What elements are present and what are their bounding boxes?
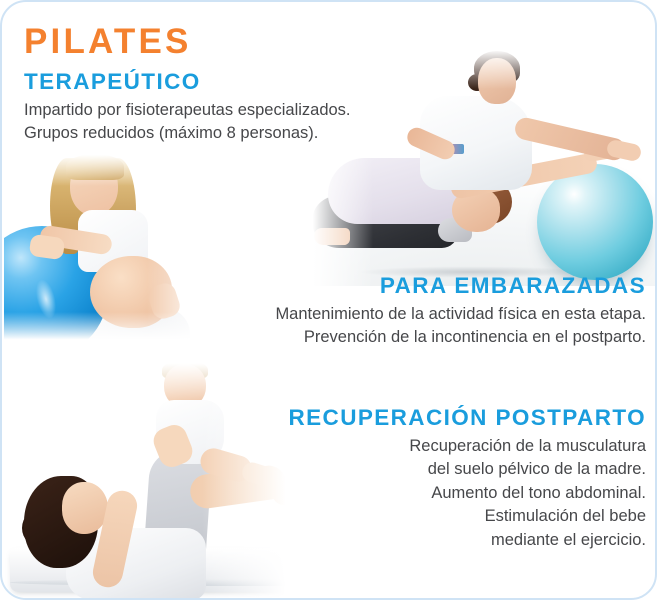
body-line: mediante el ejercicio. (288, 529, 646, 553)
body-line: Impartido por fisioterapeutas especializ… (24, 99, 351, 123)
body-line: del suelo pélvico de la madre. (288, 458, 646, 482)
photo-physiotherapist-session (302, 46, 657, 286)
woman-hair-top (66, 154, 124, 180)
section-embarazadas: PARA EMBARAZADAS Mantenimiento de la act… (275, 274, 646, 350)
section-terapeutico-heading: TERAPEÚTICO (24, 70, 351, 94)
exercise-ball-cyan (537, 164, 653, 280)
therapist-head (478, 58, 516, 104)
section-postparto-body: Recuperación de la musculatura del suelo… (288, 435, 646, 553)
body-line: Mantenimiento de la actividad física en … (275, 303, 646, 327)
section-embarazadas-body: Mantenimiento de la actividad física en … (275, 303, 646, 350)
section-terapeutico: TERAPEÚTICO Impartido por fisioterapeuta… (24, 70, 351, 146)
page-title: PILATES (24, 24, 192, 59)
mother-head (62, 482, 108, 534)
pilates-poster: PILATES TERAPEÚTICO Impartido por fisiot… (0, 0, 657, 600)
body-line: Aumento del tono abdominal. (288, 482, 646, 506)
section-terapeutico-body: Impartido por fisioterapeutas especializ… (24, 99, 351, 146)
photo-mother-baby-mat (4, 360, 304, 600)
body-line: Prevención de la incontinencia en el pos… (275, 326, 646, 350)
section-postparto-heading: RECUPERACIÓN POSTPARTO (288, 406, 646, 430)
section-embarazadas-heading: PARA EMBARAZADAS (275, 274, 646, 298)
section-postparto: RECUPERACIÓN POSTPARTO Recuperación de l… (288, 406, 646, 552)
client-foot (314, 228, 350, 245)
photo-pregnant-woman-ball (4, 152, 220, 342)
body-line: Recuperación de la musculatura (288, 435, 646, 459)
body-line: Grupos reducidos (máximo 8 personas). (24, 122, 351, 146)
body-line: Estimulación del bebe (288, 505, 646, 529)
